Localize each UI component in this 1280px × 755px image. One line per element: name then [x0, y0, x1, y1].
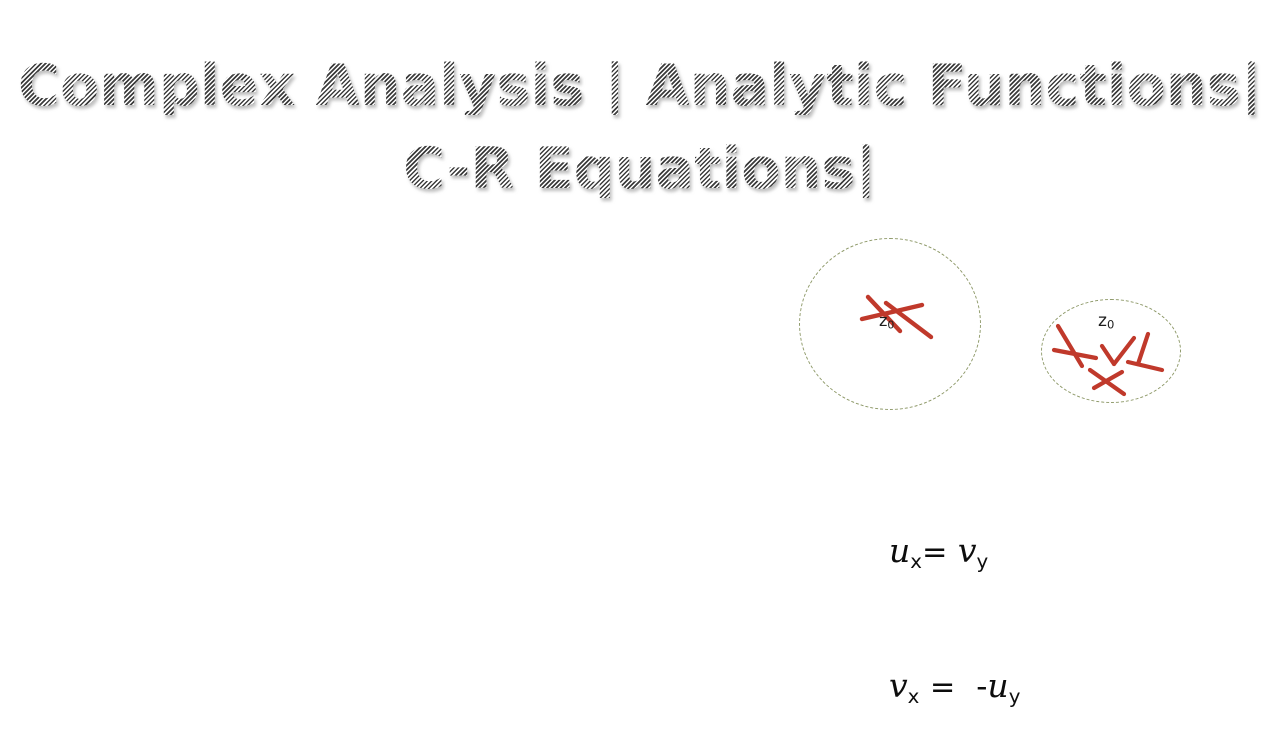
- x-mark-stroke: [1054, 350, 1096, 358]
- slide-title: Complex Analysis | Analytic Functions| C…: [0, 58, 1280, 198]
- eq2-rhs-var: u: [987, 666, 1008, 705]
- x-mark-stroke: [1094, 372, 1122, 388]
- title-line-1: Complex Analysis | Analytic Functions|: [0, 58, 1280, 115]
- x-mark-stroke: [1058, 326, 1082, 366]
- eq2-rhs-sub: y: [1009, 685, 1021, 708]
- eq2-rhs-sign: -: [976, 666, 987, 705]
- x-mark-stroke: [1128, 362, 1162, 370]
- right-z-subscript: 0: [1107, 318, 1114, 332]
- x-mark-stroke: [1090, 370, 1124, 394]
- left-z-subscript: 0: [887, 318, 894, 331]
- slide-canvas: Complex Analysis | Analytic Functions| C…: [0, 0, 1280, 720]
- eq2-lhs-sub: x: [908, 685, 920, 708]
- title-line-2: C-R Equations|: [0, 141, 1280, 198]
- equation-row: vx = -uy: [826, 620, 1020, 755]
- eq1-rhs-sub: y: [977, 550, 989, 573]
- right-z-letter: z: [1098, 311, 1107, 331]
- eq1-operator: =: [922, 535, 947, 570]
- eq2-lhs-var: v: [889, 666, 908, 705]
- left-disc-z0-label: z0: [879, 313, 894, 331]
- x-mark-stroke: [1114, 338, 1134, 364]
- eq2-operator: =: [930, 670, 955, 705]
- x-mark-stroke: [1102, 346, 1114, 364]
- right-disc-z0-label: z0: [1098, 313, 1114, 331]
- x-mark-stroke: [1138, 334, 1148, 364]
- cauchy-riemann-equations: ux= vy vx = -uy: [826, 485, 1020, 755]
- equation-row: ux= vy: [826, 485, 1020, 620]
- eq1-lhs-var: u: [889, 531, 910, 570]
- eq1-rhs-var: v: [958, 531, 977, 570]
- eq1-lhs-sub: x: [910, 550, 922, 573]
